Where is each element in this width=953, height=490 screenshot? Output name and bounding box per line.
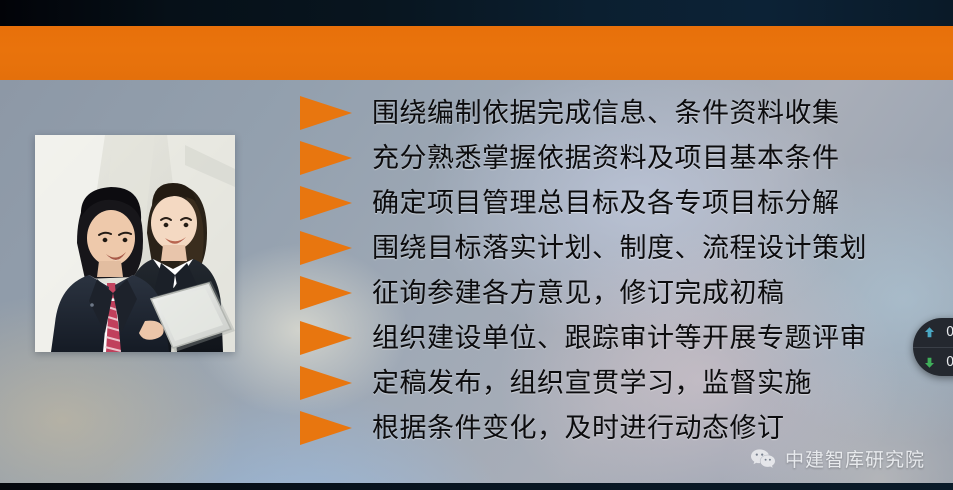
triangle-arrow-icon: [300, 321, 356, 355]
downvote-count: 0: [946, 356, 953, 369]
wechat-glyph: [750, 448, 776, 470]
top-dark-strip: [0, 0, 953, 26]
bullet-text-4: 围绕目标落实计划、制度、流程设计策划: [372, 235, 867, 262]
arrow-up-glyph: [922, 325, 937, 340]
arrow-down-glyph: [922, 355, 937, 370]
bullet-item-8: 根据条件变化，及时进行动态修订: [300, 406, 785, 450]
arrow-down-icon[interactable]: [922, 355, 937, 370]
bullet-item-3: 确定项目管理总目标及各专项目标分解: [300, 181, 840, 225]
upvote-row[interactable]: 0: [913, 318, 953, 347]
bullet-list: 围绕编制依据完成信息、条件资料收集 充分熟悉掌握依据资料及项目基本条件 确定项目…: [0, 80, 953, 483]
bullet-text-3: 确定项目管理总目标及各专项目标分解: [372, 190, 840, 217]
bullet-text-2: 充分熟悉掌握依据资料及项目基本条件: [372, 145, 840, 172]
triangle-arrow-icon: [300, 96, 356, 130]
bullet-text-5: 征询参建各方意见，修订完成初稿: [372, 280, 785, 307]
bullet-item-4: 围绕目标落实计划、制度、流程设计策划: [300, 226, 867, 270]
triangle-arrow-icon: [300, 411, 356, 445]
watermark-text: 中建智库研究院: [785, 445, 925, 472]
watermark: 中建智库研究院: [750, 445, 925, 472]
triangle-arrow-icon: [300, 186, 356, 220]
triangle-arrow-icon: [300, 366, 356, 400]
bottom-dark-strip: [0, 483, 953, 490]
slide-viewer: 围绕编制依据完成信息、条件资料收集 充分熟悉掌握依据资料及项目基本条件 确定项目…: [0, 0, 953, 490]
triangle-arrow-icon: [300, 141, 356, 175]
bullet-text-8: 根据条件变化，及时进行动态修订: [372, 415, 785, 442]
bullet-item-1: 围绕编制依据完成信息、条件资料收集: [300, 91, 840, 135]
bullet-item-5: 征询参建各方意见，修订完成初稿: [300, 271, 785, 315]
triangle-arrow-icon: [300, 276, 356, 310]
arrow-up-icon[interactable]: [922, 325, 937, 340]
bullet-item-2: 充分熟悉掌握依据资料及项目基本条件: [300, 136, 840, 180]
bullet-text-1: 围绕编制依据完成信息、条件资料收集: [372, 100, 840, 127]
orange-header-band: [0, 26, 953, 80]
triangle-arrow-icon: [300, 231, 356, 265]
bullet-item-7: 定稿发布，组织宣贯学习，监督实施: [300, 361, 812, 405]
downvote-row[interactable]: 0: [913, 347, 953, 376]
bullet-text-7: 定稿发布，组织宣贯学习，监督实施: [372, 370, 812, 397]
bullet-text-6: 组织建设单位、跟踪审计等开展专题评审: [372, 325, 867, 352]
bullet-item-6: 组织建设单位、跟踪审计等开展专题评审: [300, 316, 867, 360]
vote-widget[interactable]: 0 0: [913, 318, 953, 376]
wechat-icon: [750, 448, 776, 470]
upvote-count: 0: [946, 326, 953, 339]
